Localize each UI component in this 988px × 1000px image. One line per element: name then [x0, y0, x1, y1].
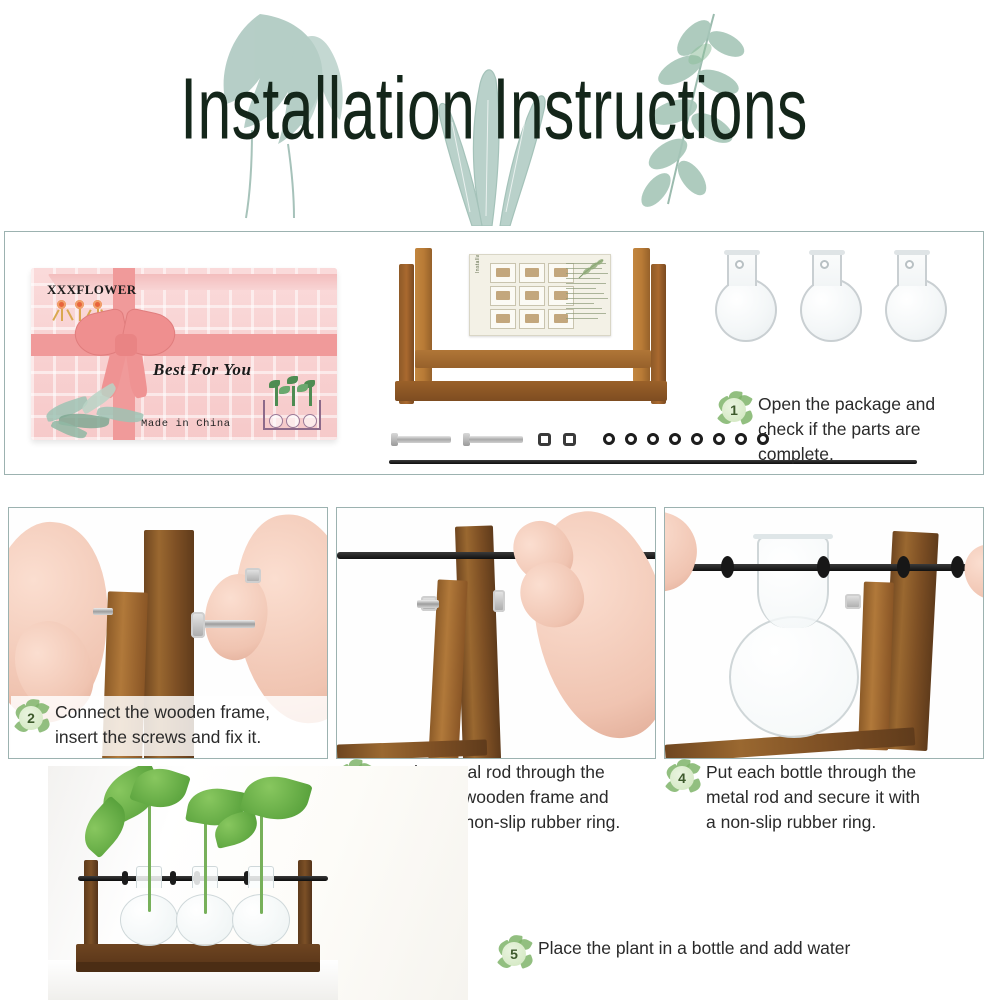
step-number: 5	[502, 942, 526, 966]
nut-part	[538, 433, 551, 446]
step-1-text: Open the package and check if the parts …	[758, 392, 935, 467]
rubber-ring-part	[603, 433, 615, 445]
box-tagline: Best For You	[153, 360, 252, 380]
rubber-ring	[951, 556, 964, 578]
step-2-text: Connect the wooden frame, insert the scr…	[55, 700, 270, 750]
rubber-ring	[170, 871, 176, 885]
glass-vase-lip	[753, 534, 833, 539]
hex-nut	[191, 612, 205, 638]
glass-bulb-vase	[881, 250, 951, 346]
wood-slat-angled	[858, 582, 894, 751]
wooden-frame-parts: Installation Instruction	[381, 246, 681, 426]
instruction-card-title: Installation Instruction	[475, 254, 481, 273]
step-number: 4	[670, 766, 694, 790]
box-leaf-illustration	[45, 380, 161, 438]
rubber-ring-part	[647, 433, 659, 445]
step-3-photo	[336, 507, 656, 759]
step-number-badge: 4	[666, 762, 698, 794]
glass-bulb-vase	[729, 616, 859, 738]
nut-part	[563, 433, 576, 446]
step-5-photo	[48, 766, 468, 1000]
card-sprig-icon	[577, 258, 605, 280]
instruction-card: Installation Instruction	[469, 254, 611, 336]
plant-stem	[148, 802, 151, 912]
rubber-ring	[817, 556, 830, 578]
step-number-badge: 5	[498, 938, 530, 970]
rubber-ring-part	[691, 433, 703, 445]
step-5-caption: 5 Place the plant in a bottle and add wa…	[498, 936, 968, 970]
step-5-text: Place the plant in a bottle and add wate…	[538, 936, 850, 961]
screw-shaft	[417, 600, 439, 608]
hex-nut	[493, 590, 505, 612]
glass-vase-neck	[757, 536, 829, 628]
page-title: Installation Instructions	[89, 58, 899, 158]
step-number: 1	[722, 398, 746, 422]
step-4-photo	[664, 507, 984, 759]
step-4-text: Put each bottle through the metal rod an…	[706, 760, 920, 835]
instruction-card-thumbnails	[490, 263, 574, 329]
hex-nut	[845, 594, 861, 609]
glass-bulb-vase	[796, 250, 866, 346]
box-brand-label: XXXFLOWER	[47, 282, 137, 298]
rubber-ring	[721, 556, 734, 578]
step-number-badge: 2	[15, 702, 47, 734]
instruction-sheet: Installation Instructions XXXFLOWER	[0, 0, 988, 1000]
step-1-caption: 1 Open the package and check if the part…	[718, 392, 980, 467]
hex-nut	[245, 568, 261, 583]
screw-tip	[93, 608, 113, 615]
step-number-badge: 1	[718, 394, 750, 426]
step-4-caption: 4 Put each bottle through the metal rod …	[666, 760, 986, 835]
stand-base-shadow	[76, 962, 320, 972]
rubber-ring	[122, 871, 128, 885]
step-2-caption: 2 Connect the wooden frame, insert the s…	[11, 696, 327, 756]
rubber-ring-part	[669, 433, 681, 445]
box-product-illustration	[259, 376, 325, 432]
rubber-ring-part	[625, 433, 637, 445]
rubber-ring	[897, 556, 910, 578]
plant-stem	[204, 810, 207, 914]
package-box: XXXFLOWER	[23, 254, 345, 446]
step-2-photo: 2 Connect the wooden frame, insert the s…	[8, 507, 328, 759]
plant-stem	[260, 804, 263, 914]
header: Installation Instructions	[0, 0, 988, 228]
glass-bulb-vase	[711, 250, 781, 346]
